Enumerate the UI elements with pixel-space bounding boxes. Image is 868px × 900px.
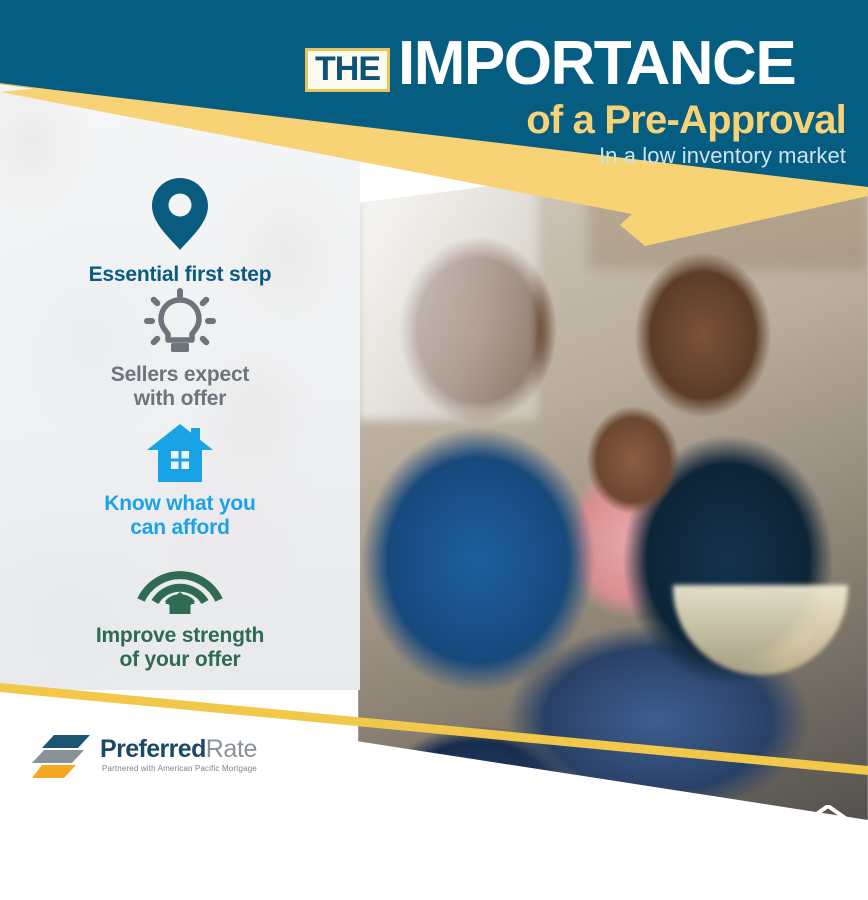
page-title: IMPORTANCE [398, 33, 795, 95]
preferred-rate-logo[interactable]: PreferredRate Partnered with American Pa… [32, 733, 232, 785]
the-badge: THE [305, 48, 390, 92]
equal-housing-house-icon [800, 805, 856, 843]
equal-housing-caption: EQUAL HOUSING OPPORTUNITY [800, 843, 856, 857]
equal-housing-caption-line1: EQUAL HOUSING [800, 843, 856, 850]
feature-improve-strength-of-your-offer: Improve strengthof your offer [0, 552, 360, 671]
feature-label: Improve strengthof your offer [0, 624, 360, 671]
signal-strength-house-icon [0, 552, 360, 614]
page-tagline: In a low inventory market [599, 145, 846, 167]
logo-tagline: Partnered with American Pacific Mortgage [102, 764, 257, 773]
house-icon [0, 424, 360, 482]
pre-approval-infographic-poster: Essential first step [0, 0, 868, 900]
feature-know-what-you-can-afford: Know what youcan afford [0, 424, 360, 539]
the-badge-label: THE [315, 52, 380, 86]
logo-word-rate: Rate [206, 735, 257, 763]
page-subtitle: of a Pre-Approval [526, 100, 846, 140]
equal-housing-opportunity-logo: EQUAL HOUSING OPPORTUNITY [800, 805, 856, 863]
feature-label: Know what youcan afford [0, 492, 360, 539]
logo-word-preferred: Preferred [100, 735, 206, 763]
preferred-rate-logo-mark [32, 733, 94, 781]
feature-label: Sellers expectwith offer [0, 363, 360, 410]
feature-sellers-expect-with-offer: Sellers expectwith offer [0, 288, 360, 410]
header-text-group: THE IMPORTANCE of a Pre-Approval In a lo… [0, 0, 868, 300]
equal-housing-caption-line2: OPPORTUNITY [800, 850, 856, 857]
preferred-rate-wordmark: PreferredRate [100, 737, 257, 762]
